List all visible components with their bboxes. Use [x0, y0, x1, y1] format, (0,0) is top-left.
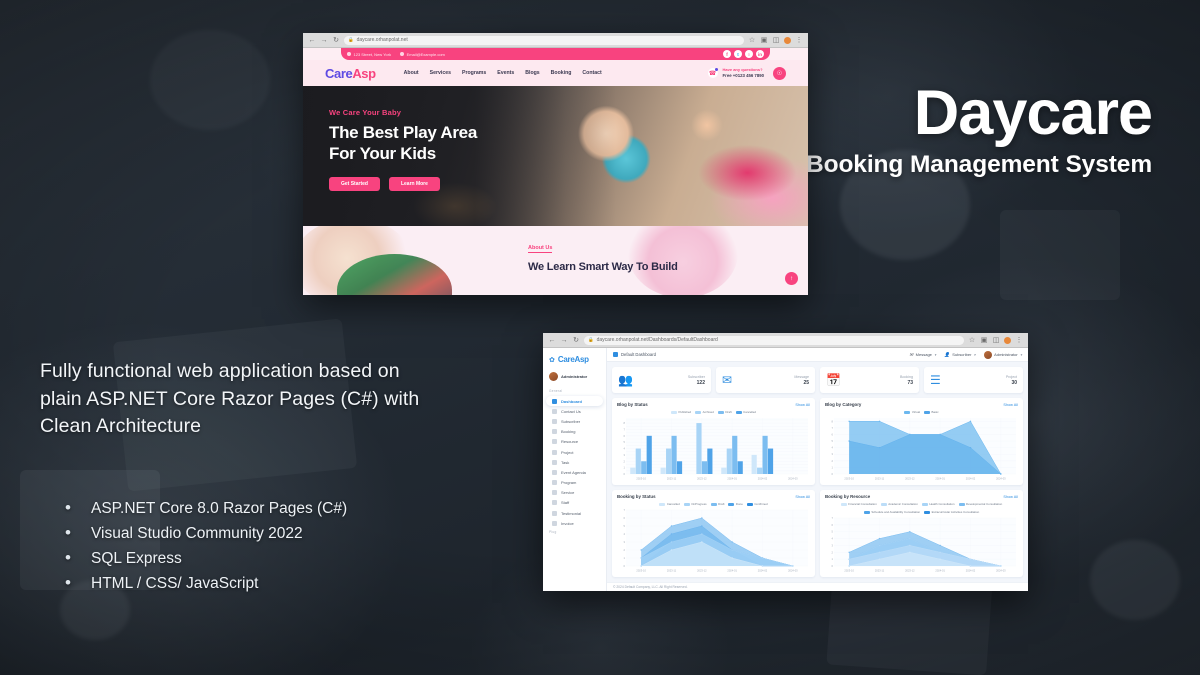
- legend-swatch: [841, 503, 847, 506]
- svg-text:7: 7: [832, 426, 834, 430]
- chart-plot-area: 012345672023-102023-112023-122024-012024…: [617, 508, 810, 573]
- tech-stack-list: ASP.NET Core 8.0 Razor Pages (C#) Visual…: [55, 496, 455, 596]
- svg-text:0: 0: [832, 564, 834, 568]
- panel-booking-by-status: Booking by Status Show All CancelledOnPr…: [612, 490, 815, 577]
- legend-item[interactable]: Developmental Consultation: [959, 502, 1003, 506]
- site-brand-logo[interactable]: CareAsp: [325, 66, 376, 81]
- sidebar-item-staff[interactable]: Staff: [546, 498, 603, 508]
- dashboard-content: 👥 Subscriber122 ✉ Message25 📅 Booking73 …: [607, 362, 1028, 582]
- legend-item[interactable]: OnProgress: [684, 502, 707, 506]
- checklist-icon: ☰: [930, 374, 941, 386]
- legend-swatch: [695, 411, 701, 414]
- testimonial-icon: [552, 511, 557, 516]
- site-top-contact-bar: 123 Street, New York Email@Example.com f…: [341, 48, 770, 60]
- svg-text:2023-11: 2023-11: [667, 569, 677, 573]
- svg-text:2023-10: 2023-10: [844, 477, 854, 481]
- bookmark-star-icon[interactable]: ☆: [968, 337, 976, 344]
- legend-swatch: [718, 411, 724, 414]
- legend-swatch: [736, 411, 742, 414]
- instagram-icon[interactable]: ○: [745, 50, 753, 58]
- site-hero-section: We Care Your Baby The Best Play Area For…: [303, 86, 808, 226]
- legend-swatch: [747, 503, 753, 506]
- legend-item[interactable]: Cancelled: [659, 502, 679, 506]
- get-started-button[interactable]: Get Started: [329, 177, 380, 191]
- chart-legend: CancelledOnProgressDraftDoneConfirmed: [617, 502, 810, 506]
- site-about-section: About Us We Learn Smart Way To Build ↑: [303, 226, 808, 295]
- extensions-icon[interactable]: ▣: [980, 337, 988, 344]
- sidebar-item-testimonial[interactable]: Testimonial: [546, 508, 603, 518]
- svg-text:2024-03: 2024-03: [996, 477, 1006, 481]
- invoice-icon: [552, 521, 557, 526]
- nav-item-booking[interactable]: Booking: [551, 70, 572, 76]
- panel-title: Blog by Status: [617, 402, 648, 407]
- facebook-icon[interactable]: f: [723, 50, 731, 58]
- chart-plot-area: 0123456782023-102023-112023-122024-01202…: [617, 416, 810, 481]
- svg-text:2024-03: 2024-03: [996, 569, 1006, 573]
- sidebar-bottom-label: Plug: [543, 528, 606, 537]
- dashboard-topbar: Default Dashboard ✉ Message ▾ 👤 Subscrib…: [607, 348, 1028, 362]
- legend-swatch: [671, 411, 677, 414]
- site-email: Email@Example.com: [400, 52, 445, 57]
- svg-text:2: 2: [624, 548, 626, 552]
- site-nav-links: About Services Programs Events Blogs Boo…: [404, 70, 602, 76]
- list-item: SQL Express: [55, 546, 455, 571]
- account-menu[interactable]: Administrator ▾: [984, 351, 1022, 359]
- leaf-logo-icon: ✿: [549, 356, 555, 364]
- legend-swatch: [864, 511, 870, 514]
- legend-label: Published: [678, 410, 691, 414]
- legend-item[interactable]: Basic: [924, 410, 939, 414]
- avatar: [984, 351, 992, 359]
- envelope-icon: ✉: [909, 352, 913, 358]
- sidebar-user-card[interactable]: Administrator: [543, 369, 606, 387]
- kpi-card-row: 👥 Subscriber122 ✉ Message25 📅 Booking73 …: [612, 367, 1023, 393]
- task-icon: [552, 460, 557, 465]
- sidebar-item-service[interactable]: Service: [546, 488, 603, 498]
- svg-text:2024-02: 2024-02: [758, 569, 768, 573]
- reload-icon[interactable]: ↻: [332, 37, 340, 44]
- legend-item[interactable]: Virtual: [904, 410, 920, 414]
- dashboard-viewport: ✿ CareAsp Administrator General Dashboar…: [543, 348, 1028, 591]
- svg-text:0: 0: [624, 472, 626, 476]
- cart-icon[interactable]: ☉: [773, 67, 786, 80]
- nav-item-services[interactable]: Services: [430, 70, 451, 76]
- contact-icon: [552, 409, 557, 414]
- svg-text:2023-10: 2023-10: [636, 477, 646, 481]
- chevron-down-icon: ▾: [934, 353, 936, 357]
- show-all-link[interactable]: Show All: [1003, 403, 1018, 407]
- bookmark-star-icon[interactable]: ☆: [748, 37, 756, 44]
- kebab-menu-icon[interactable]: ⋮: [1015, 337, 1023, 344]
- chart-legend: Financial ConsultationAcademic Consultat…: [825, 502, 1018, 514]
- lock-icon: 🔒: [588, 337, 594, 343]
- grid-icon: [613, 352, 618, 357]
- kpi-card-project[interactable]: ☰ Project30: [924, 367, 1023, 393]
- legend-item[interactable]: Cancelled: [736, 410, 756, 414]
- legend-item[interactable]: Published: [671, 410, 691, 414]
- lead-paragraph-block: Fully functional web application based o…: [40, 358, 420, 441]
- list-item: HTML / CSS/ JavaScript: [55, 571, 455, 596]
- svg-text:3: 3: [832, 543, 834, 547]
- legend-label: Developmental Consultation: [966, 502, 1002, 506]
- subscriber-menu[interactable]: 👤 Subscriber ▾: [944, 352, 976, 358]
- sidebar-item-event-agenda[interactable]: Event Agenda: [546, 467, 603, 477]
- panel-blog-by-category: Blog by Category Show All VirtualBasic 0…: [820, 398, 1023, 485]
- svg-text:2023-12: 2023-12: [697, 477, 707, 481]
- svg-text:8: 8: [624, 421, 626, 425]
- legend-label: Basic: [932, 410, 939, 414]
- svg-text:1: 1: [624, 556, 626, 560]
- sidebar-item-booking[interactable]: Booking: [546, 427, 603, 437]
- legend-label: Schedule and Availability Consultation: [871, 510, 920, 514]
- reload-icon[interactable]: ↻: [572, 337, 580, 344]
- kebab-menu-icon[interactable]: ⋮: [795, 37, 803, 44]
- legend-label: Extracurricular Activities Consultation: [932, 510, 980, 514]
- chart-row-top: Blog by Status Show All PublishedArchive…: [612, 398, 1023, 485]
- address-bar[interactable]: 🔒 daycare.orhanpolat.net/Dashboards/Defa…: [584, 336, 964, 345]
- legend-swatch: [904, 411, 910, 414]
- message-menu[interactable]: ✉ Message ▾: [909, 352, 936, 358]
- hero-heading-line-2: For Your Kids: [329, 143, 477, 164]
- dashboard-brand[interactable]: ✿ CareAsp: [543, 353, 606, 369]
- svg-text:2024-02: 2024-02: [966, 569, 976, 573]
- svg-text:6: 6: [832, 523, 834, 527]
- legend-item[interactable]: Done: [728, 502, 742, 506]
- svg-text:6: 6: [624, 516, 626, 520]
- contact-phone-number: Free +0123 456 7890: [723, 73, 764, 79]
- legend-swatch: [959, 503, 965, 506]
- svg-text:7: 7: [624, 508, 626, 512]
- split-view-icon[interactable]: ◫: [772, 37, 780, 44]
- profile-avatar-icon[interactable]: [784, 37, 791, 44]
- chart-svg: 012345672023-102023-112023-122024-012024…: [825, 516, 1018, 573]
- svg-text:1: 1: [624, 466, 626, 470]
- legend-label: Cancelled: [743, 410, 756, 414]
- sidebar-section-label: General: [543, 387, 606, 396]
- svg-text:2023-12: 2023-12: [905, 569, 915, 573]
- legend-swatch: [684, 503, 690, 506]
- site-navigation-bar: CareAsp About Services Programs Events B…: [303, 60, 808, 86]
- project-icon: [552, 450, 557, 455]
- kpi-card-message[interactable]: ✉ Message25: [716, 367, 815, 393]
- svg-text:3: 3: [624, 540, 626, 544]
- dashboard-browser-window: ← → ↻ 🔒 daycare.orhanpolat.net/Dashboard…: [543, 333, 1028, 591]
- nav-item-programs[interactable]: Programs: [462, 70, 486, 76]
- chevron-down-icon: ▾: [974, 353, 976, 357]
- site-nav-contact: ☎ Have any questions? Free +0123 456 789…: [708, 67, 786, 80]
- sidebar-item-subscriber[interactable]: Subscriber: [546, 416, 603, 426]
- svg-text:2023-12: 2023-12: [905, 477, 915, 481]
- svg-text:1: 1: [832, 557, 834, 561]
- show-all-link[interactable]: Show All: [795, 495, 810, 499]
- svg-text:2023-12: 2023-12: [697, 569, 707, 573]
- chart-legend: PublishedArchivedDraftCancelled: [617, 410, 810, 414]
- list-item: Visual Studio Community 2022: [55, 521, 455, 546]
- nav-item-about[interactable]: About: [404, 70, 419, 76]
- sidebar-item-project[interactable]: Project: [546, 447, 603, 457]
- legend-swatch: [728, 503, 734, 506]
- about-heading: We Learn Smart Way To Build: [528, 261, 678, 273]
- linkedin-icon[interactable]: in: [756, 50, 764, 58]
- legend-label: Health Consultation: [929, 502, 954, 506]
- resource-icon: [552, 439, 557, 444]
- chart-plot-area: 012345672023-102023-112023-122024-012024…: [825, 516, 1018, 573]
- hero-eyebrow: We Care Your Baby: [329, 108, 477, 117]
- svg-text:2023-10: 2023-10: [636, 569, 646, 573]
- lead-paragraph: Fully functional web application based o…: [40, 358, 420, 441]
- address-bar-url: daycare.orhanpolat.net/Dashboards/Defaul…: [597, 337, 718, 343]
- svg-text:2024-02: 2024-02: [758, 477, 768, 481]
- chart-legend: VirtualBasic: [825, 410, 1018, 414]
- svg-text:1: 1: [832, 465, 834, 469]
- legend-item[interactable]: Confirmed: [747, 502, 768, 506]
- legend-label: OnProgress: [691, 502, 706, 506]
- show-all-link[interactable]: Show All: [795, 403, 810, 407]
- page-subtitle: Booking Management System: [806, 150, 1152, 180]
- slide-title-block: Daycare Booking Management System: [806, 78, 1152, 180]
- legend-item[interactable]: Archived: [695, 410, 714, 414]
- subscriber-icon: [552, 419, 557, 424]
- legend-label: Done: [736, 502, 743, 506]
- legend-label: Financial Consultation: [848, 502, 876, 506]
- hero-heading-line-1: The Best Play Area: [329, 122, 477, 143]
- chart-plot-area: 0123456782023-102023-112023-122024-01202…: [825, 416, 1018, 481]
- svg-text:8: 8: [832, 419, 834, 423]
- learn-more-button[interactable]: Learn More: [389, 177, 440, 191]
- legend-label: Academic Consultation: [888, 502, 918, 506]
- panel-title: Booking by Resource: [825, 494, 870, 499]
- svg-text:2024-02: 2024-02: [966, 477, 976, 481]
- back-arrow-icon[interactable]: ←: [548, 337, 556, 344]
- show-all-link[interactable]: Show All: [1003, 495, 1018, 499]
- legend-item[interactable]: Draft: [718, 410, 732, 414]
- back-arrow-icon[interactable]: ←: [308, 37, 316, 44]
- list-item: ASP.NET Core 8.0 Razor Pages (C#): [55, 496, 455, 521]
- panel-booking-by-resource: Booking by Resource Show All Financial C…: [820, 490, 1023, 577]
- program-icon: [552, 480, 557, 485]
- chart-row-bottom: Booking by Status Show All CancelledOnPr…: [612, 490, 1023, 577]
- phone-icon: ☎: [708, 68, 718, 78]
- svg-text:2: 2: [832, 459, 834, 463]
- legend-item[interactable]: Schedule and Availability Consultation: [864, 510, 920, 514]
- sidebar-item-program[interactable]: Program: [546, 478, 603, 488]
- svg-text:2024-01: 2024-01: [727, 477, 737, 481]
- site-address: 123 Street, New York: [347, 52, 391, 57]
- booking-icon: [552, 429, 557, 434]
- envelope-icon: [400, 52, 404, 56]
- svg-text:2024-01: 2024-01: [935, 569, 945, 573]
- svg-text:2024-01: 2024-01: [935, 477, 945, 481]
- svg-text:0: 0: [624, 564, 626, 568]
- legend-swatch: [881, 503, 887, 506]
- nav-item-events[interactable]: Events: [497, 70, 514, 76]
- arrow-up-icon[interactable]: ↑: [785, 272, 798, 285]
- calendar-icon: 📅: [826, 374, 841, 386]
- browser-chrome-bar: ← → ↻ 🔒 daycare.orhanpolat.net ☆ ▣ ◫ ⋮: [303, 33, 808, 48]
- legend-item[interactable]: Draft: [711, 502, 725, 506]
- lock-icon: 🔒: [348, 37, 354, 43]
- chart-svg: 0123456782023-102023-112023-122024-01202…: [825, 416, 1018, 481]
- event-agenda-icon: [552, 470, 557, 475]
- svg-text:4: 4: [832, 446, 834, 450]
- extensions-icon[interactable]: ▣: [760, 37, 768, 44]
- svg-text:4: 4: [832, 537, 834, 541]
- forward-arrow-icon[interactable]: →: [560, 337, 568, 344]
- map-pin-icon: [347, 52, 351, 56]
- legend-label: Cancelled: [667, 502, 680, 506]
- page-title: Daycare: [806, 78, 1152, 148]
- legend-label: Virtual: [912, 410, 920, 414]
- breadcrumb: Default Dashboard: [613, 352, 656, 357]
- dashboard-icon: [552, 399, 557, 404]
- dashboard-sidebar: ✿ CareAsp Administrator General Dashboar…: [543, 348, 607, 591]
- dashboard-main: Default Dashboard ✉ Message ▾ 👤 Subscrib…: [607, 348, 1028, 591]
- chart-svg: 0123456782023-102023-112023-122024-01202…: [617, 416, 810, 481]
- chart-svg: 012345672023-102023-112023-122024-012024…: [617, 508, 810, 573]
- legend-item[interactable]: Academic Consultation: [881, 502, 918, 506]
- panel-title: Blog by Category: [825, 402, 861, 407]
- envelope-icon: ✉: [722, 374, 732, 386]
- marketing-site-viewport: 123 Street, New York Email@Example.com f…: [303, 48, 808, 295]
- svg-text:5: 5: [624, 440, 626, 444]
- svg-text:7: 7: [832, 516, 834, 520]
- dashboard-footer: © 2024 Default Company, LLC. All Right R…: [607, 582, 1028, 591]
- avatar: [549, 372, 558, 381]
- svg-text:2: 2: [832, 550, 834, 554]
- svg-text:2024-03: 2024-03: [788, 477, 798, 481]
- address-bar[interactable]: 🔒 daycare.orhanpolat.net: [344, 36, 744, 45]
- legend-label: Draft: [725, 410, 731, 414]
- forward-arrow-icon[interactable]: →: [320, 37, 328, 44]
- sidebar-item-contact-us[interactable]: Contact Us: [546, 406, 603, 416]
- svg-text:2023-11: 2023-11: [875, 477, 885, 481]
- profile-avatar-icon[interactable]: [1004, 337, 1011, 344]
- staff-icon: [552, 500, 557, 505]
- svg-text:5: 5: [832, 530, 834, 534]
- browser-chrome-bar: ← → ↻ 🔒 daycare.orhanpolat.net/Dashboard…: [543, 333, 1028, 348]
- svg-text:4: 4: [624, 447, 626, 451]
- svg-text:7: 7: [624, 427, 626, 431]
- legend-swatch: [711, 503, 717, 506]
- legend-swatch: [659, 503, 665, 506]
- legend-swatch: [924, 511, 930, 514]
- about-eyebrow: About Us: [528, 245, 552, 253]
- svg-text:2: 2: [624, 459, 626, 463]
- nav-item-contact[interactable]: Contact: [582, 70, 601, 76]
- legend-item[interactable]: Financial Consultation: [841, 502, 877, 506]
- svg-text:2024-03: 2024-03: [788, 569, 798, 573]
- svg-text:6: 6: [832, 432, 834, 436]
- svg-text:2024-01: 2024-01: [727, 569, 737, 573]
- panel-title: Booking by Status: [617, 494, 656, 499]
- sidebar-item-task[interactable]: Task: [546, 457, 603, 467]
- social-links: f t ○ in: [723, 50, 764, 58]
- legend-label: Confirmed: [754, 502, 767, 506]
- svg-text:5: 5: [624, 524, 626, 528]
- svg-text:4: 4: [624, 532, 626, 536]
- split-view-icon[interactable]: ◫: [992, 337, 1000, 344]
- legend-swatch: [922, 503, 928, 506]
- sidebar-item-resource[interactable]: Resource: [546, 437, 603, 447]
- svg-text:3: 3: [832, 452, 834, 456]
- svg-text:2023-11: 2023-11: [875, 569, 885, 573]
- sidebar-item-dashboard[interactable]: Dashboard: [546, 396, 603, 406]
- twitter-icon[interactable]: t: [734, 50, 742, 58]
- user-icon: 👤: [944, 352, 950, 358]
- kpi-card-subscriber[interactable]: 👥 Subscriber122: [612, 367, 711, 393]
- people-icon: 👥: [618, 374, 633, 386]
- svg-text:2023-11: 2023-11: [667, 477, 677, 481]
- svg-text:6: 6: [624, 434, 626, 438]
- chevron-down-icon: ▾: [1020, 353, 1022, 357]
- legend-swatch: [924, 411, 930, 414]
- marketing-site-browser-window: ← → ↻ 🔒 daycare.orhanpolat.net ☆ ▣ ◫ ⋮ 1…: [303, 33, 808, 295]
- svg-text:5: 5: [832, 439, 834, 443]
- address-bar-url: daycare.orhanpolat.net: [357, 37, 408, 43]
- service-icon: [552, 490, 557, 495]
- legend-item[interactable]: Health Consultation: [922, 502, 955, 506]
- kpi-card-booking[interactable]: 📅 Booking73: [820, 367, 919, 393]
- svg-text:3: 3: [624, 453, 626, 457]
- legend-item[interactable]: Extracurricular Activities Consultation: [924, 510, 979, 514]
- svg-text:0: 0: [832, 472, 834, 476]
- svg-text:2023-10: 2023-10: [844, 569, 854, 573]
- nav-item-blogs[interactable]: Blogs: [525, 70, 539, 76]
- legend-label: Draft: [718, 502, 724, 506]
- legend-label: Archived: [703, 410, 714, 414]
- panel-blog-by-status: Blog by Status Show All PublishedArchive…: [612, 398, 815, 485]
- sidebar-item-invoice[interactable]: Invoice: [546, 518, 603, 528]
